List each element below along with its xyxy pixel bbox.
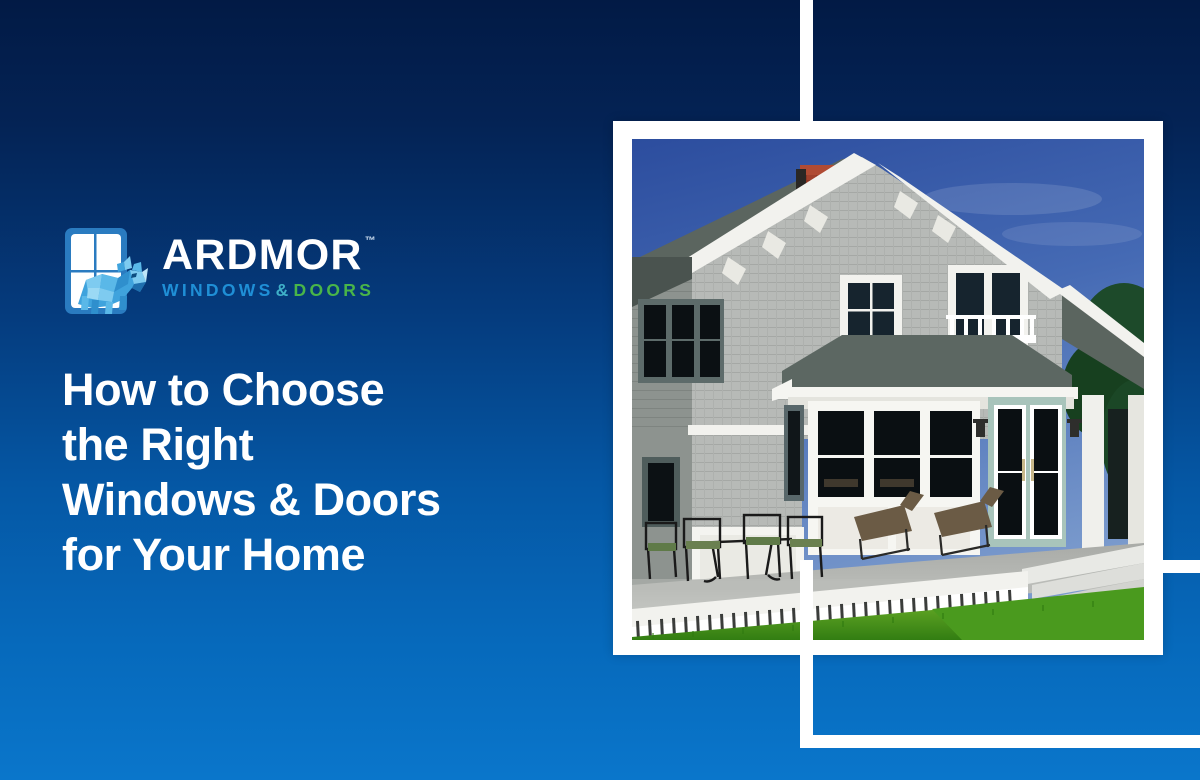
brand-logo[interactable]: ARDMOR ™ WINDOWS&DOORS	[62, 226, 582, 326]
photo-frame-top-accent	[800, 0, 813, 130]
page-title: How to Choose the Right Windows & Doors …	[62, 362, 582, 582]
tagline-doors: DOORS	[294, 280, 375, 300]
promo-banner: ARDMOR ™ WINDOWS&DOORS How to Choose the…	[0, 0, 1200, 780]
tagline-ampersand: &	[274, 280, 294, 300]
content-column: ARDMOR ™ WINDOWS&DOORS How to Choose the…	[62, 226, 582, 612]
headline-line-1: How to Choose	[62, 362, 582, 417]
trademark-symbol: ™	[365, 236, 376, 247]
photo-frame-secondary-top	[1150, 560, 1200, 573]
headline-line-2: the Right	[62, 417, 582, 472]
tagline-windows: WINDOWS	[162, 280, 274, 300]
headline-line-3: Windows & Doors	[62, 472, 582, 527]
headline-line-4: for Your Home	[62, 527, 582, 582]
rhino-in-window-icon	[62, 226, 148, 316]
brand-name-text: ARDMOR	[162, 231, 363, 279]
brand-name: ARDMOR ™	[162, 234, 363, 276]
photo-frame-secondary	[800, 560, 1200, 748]
brand-wordmark: ARDMOR ™ WINDOWS&DOORS	[162, 226, 374, 301]
brand-tagline: WINDOWS&DOORS	[162, 280, 374, 301]
